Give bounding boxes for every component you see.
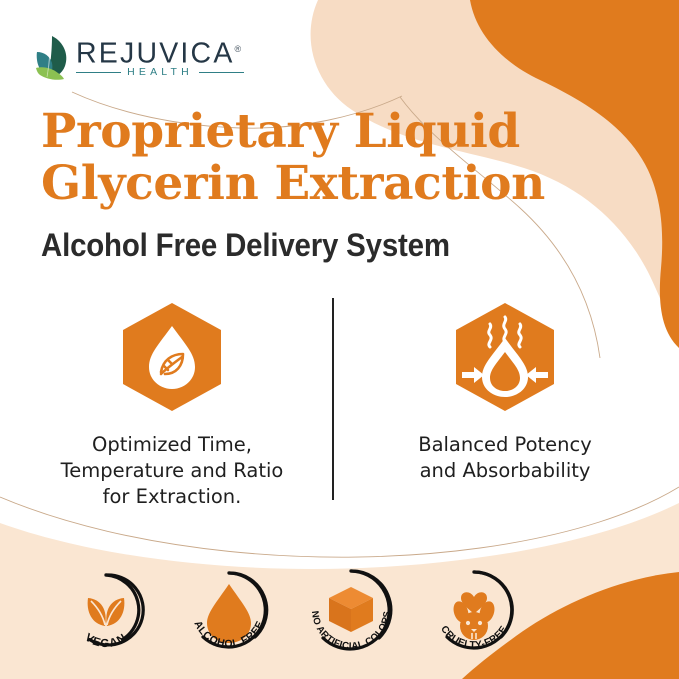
page-title: Proprietary Liquid Glycerin Extraction (41, 106, 601, 210)
brand-tagline-row: HEALTH (76, 66, 244, 78)
feature-potency-caption: Balanced Potency and Absorbability (360, 432, 650, 484)
caption-line: Temperature and Ratio (61, 459, 284, 482)
page-subtitle: Alcohol Free Delivery System (41, 226, 450, 264)
brand-logo[interactable]: REJUVICA® HEALTH (34, 33, 234, 85)
badge-vegan[interactable]: VEGAN (60, 564, 152, 656)
caption-line: and Absorbability (420, 459, 591, 482)
svg-text:VEGAN: VEGAN (83, 632, 130, 650)
caption-line: for Extraction. (103, 485, 242, 508)
badge-label-vegan: VEGAN (83, 632, 130, 650)
leaf-swoosh-icon (34, 35, 74, 81)
bunny-heart-icon (451, 592, 497, 640)
caption-line: Balanced Potency (418, 433, 592, 456)
certification-badges: VEGAN ALCOHOL FREE (60, 564, 520, 656)
feature-extraction-caption: Optimized Time, Temperature and Ratio fo… (27, 432, 317, 510)
hexagon-droplet-heat-arrows-icon (448, 300, 562, 414)
badge-alcohol-free[interactable]: ALCOHOL FREE (183, 564, 275, 656)
tagline-rule-left (76, 72, 121, 73)
feature-extraction: Optimized Time, Temperature and Ratio fo… (27, 300, 317, 510)
brand-tagline: HEALTH (127, 66, 193, 78)
feature-divider (332, 298, 334, 500)
badge-cruelty-free[interactable]: CRUELTY-FREE (428, 564, 520, 656)
badge-no-artificial-colors[interactable]: NO ARTIFICIAL COLORS (305, 564, 397, 656)
headline-line-1: Proprietary Liquid (41, 104, 520, 159)
headline-line-2: Glycerin Extraction (41, 158, 601, 210)
brand-wordmark: REJUVICA® (76, 33, 241, 71)
registered-mark: ® (235, 44, 242, 54)
cube-box-icon (329, 587, 373, 632)
caption-line: Optimized Time, (92, 433, 252, 456)
tagline-rule-right (199, 72, 244, 73)
feature-potency: Balanced Potency and Absorbability (360, 300, 650, 484)
hexagon-droplet-leaf-icon (115, 300, 229, 414)
infographic-poster: REJUVICA® HEALTH Proprietary Liquid Glyc… (0, 0, 679, 679)
